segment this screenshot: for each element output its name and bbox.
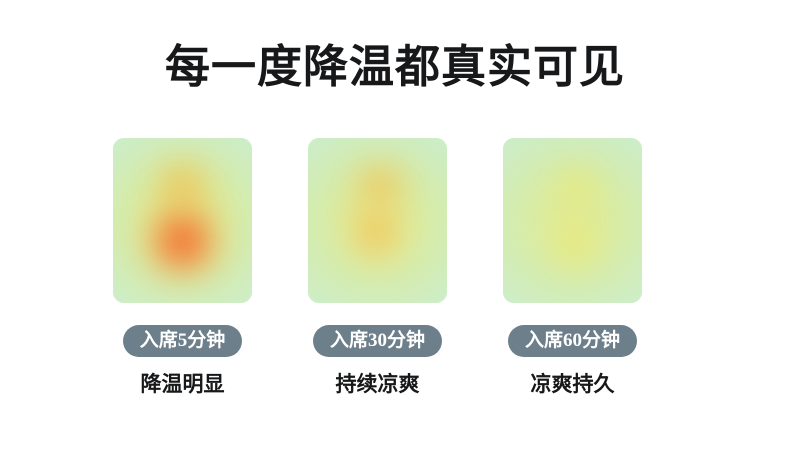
- status-badge-60min: 入席60分钟: [508, 325, 637, 357]
- thermal-head-blob: [355, 163, 405, 206]
- thermal-torso-blob: [144, 201, 222, 279]
- status-badge-30min: 入席30分钟: [313, 325, 442, 357]
- caption-60min: 凉爽持久: [531, 371, 615, 397]
- thermal-image-row: [113, 138, 642, 303]
- label-column-5min: 入席5分钟 降温明显: [113, 325, 252, 397]
- promo-page: 每一度降温都真实可见 入席5分钟 降温明显: [0, 0, 790, 471]
- status-badge-5min: 入席5分钟: [123, 325, 243, 357]
- thermal-image-30min: [308, 138, 447, 303]
- caption-5min: 降温明显: [141, 371, 225, 397]
- page-title: 每一度降温都真实可见: [0, 38, 790, 96]
- label-column-60min: 入席60分钟 凉爽持久: [503, 325, 642, 397]
- caption-30min: 持续凉爽: [336, 371, 420, 397]
- label-column-30min: 入席30分钟 持续凉爽: [308, 325, 447, 397]
- thermal-head-blob: [156, 161, 209, 206]
- thermal-image-5min: [113, 138, 252, 303]
- thermal-torso-blob: [351, 206, 401, 260]
- thermal-torso-blob: [552, 225, 599, 268]
- thermal-image-60min: [503, 138, 642, 303]
- label-row: 入席5分钟 降温明显 入席30分钟 持续凉爽 入席60分钟 凉爽持久: [113, 325, 642, 397]
